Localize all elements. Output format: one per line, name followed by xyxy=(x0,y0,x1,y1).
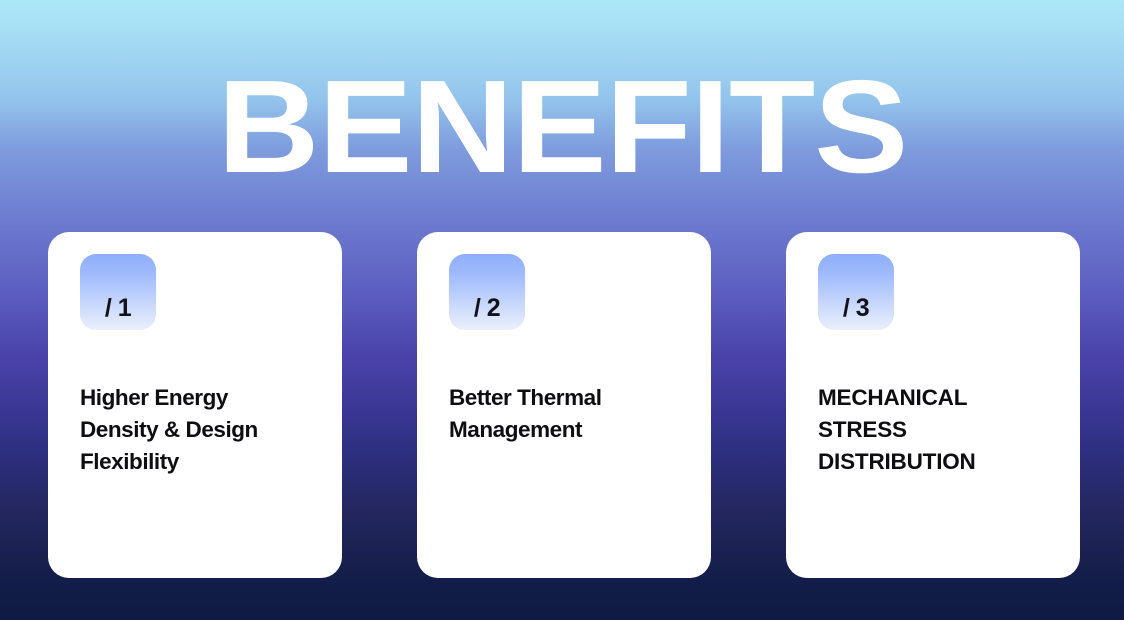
benefit-card-2[interactable]: / 2 Better Thermal Management xyxy=(417,232,711,578)
benefit-title-3: MECHANICAL STRESS DISTRIBUTION xyxy=(818,382,1043,478)
page-title-container: BENEFITS xyxy=(0,66,1124,187)
benefit-card-3[interactable]: / 3 MECHANICAL STRESS DISTRIBUTION xyxy=(786,232,1080,578)
benefit-number-label-1: / 1 xyxy=(80,296,156,321)
page-title: BENEFITS xyxy=(217,66,907,187)
benefit-number-badge-2: / 2 xyxy=(449,254,525,330)
benefit-title-2: Better Thermal Management xyxy=(449,382,674,446)
benefit-cards-row: / 1 Higher Energy Density & Design Flexi… xyxy=(48,232,1080,578)
benefit-number-badge-1: / 1 xyxy=(80,254,156,330)
benefit-card-1[interactable]: / 1 Higher Energy Density & Design Flexi… xyxy=(48,232,342,578)
benefit-number-badge-3: / 3 xyxy=(818,254,894,330)
benefit-number-label-3: / 3 xyxy=(818,296,894,321)
benefit-number-label-2: / 2 xyxy=(449,296,525,321)
benefits-slide: BENEFITS / 1 Higher Energy Density & Des… xyxy=(0,0,1124,620)
benefit-title-1: Higher Energy Density & Design Flexibili… xyxy=(80,382,305,478)
